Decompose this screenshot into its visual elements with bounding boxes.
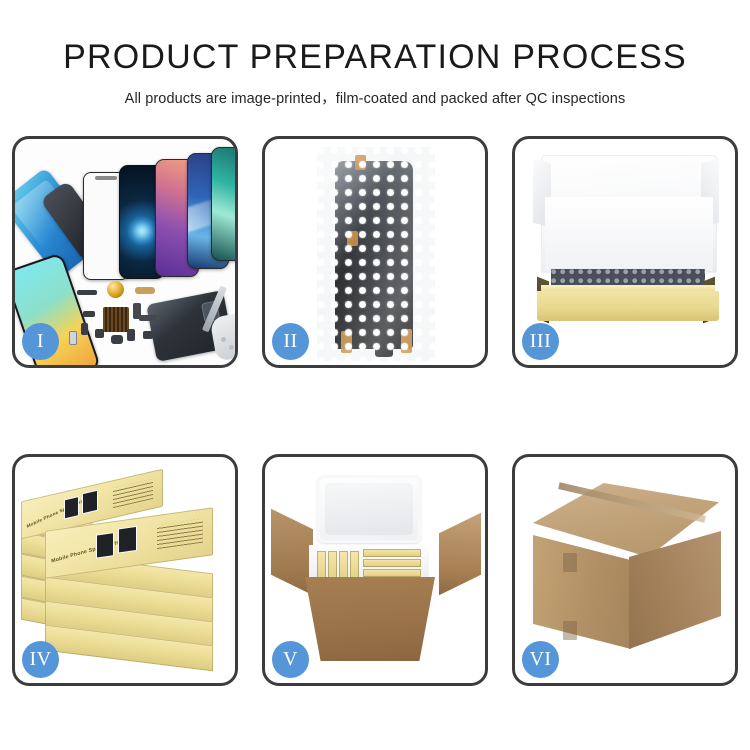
foam-lid-inner	[325, 483, 413, 535]
component-chip-icon-6	[143, 331, 153, 339]
carton-flap-right-icon	[439, 513, 481, 595]
box-label-rear: Mobile Phone Spare Parts	[26, 497, 87, 529]
step-badge-5: V	[272, 641, 309, 678]
step-badge-1: I	[22, 323, 59, 360]
flex-cable-icon-3	[139, 315, 157, 321]
box-spec-lines-front	[157, 519, 203, 549]
box-chip-front-2	[119, 527, 136, 552]
carton-tab-icon-2	[563, 621, 577, 640]
page-subtitle: All products are image-printed，film-coat…	[0, 87, 750, 108]
step-badge-6: VI	[522, 641, 559, 678]
packed-box-icon-7	[363, 569, 421, 577]
process-steps-grid: I II	[12, 136, 738, 686]
step-panel-4: Mobile Phone Spare Parts Mobile Phone Sp…	[12, 454, 238, 686]
step-panel-2: II	[262, 136, 488, 368]
box-chip-front-1	[97, 533, 113, 557]
packed-box-icon-6	[363, 559, 421, 567]
box-spec-lines-rear	[113, 479, 153, 508]
sim-tray-icon	[69, 331, 77, 345]
connector-grid-icon	[103, 307, 129, 332]
teal-phone-display-icon	[211, 147, 235, 261]
plastic-sheen	[317, 147, 435, 361]
screw-icon-1	[221, 337, 226, 342]
step-badge-2: II	[272, 323, 309, 360]
packed-box-icon-5	[363, 549, 421, 557]
component-chip-icon-1	[83, 311, 95, 317]
box-chip-rear-1	[65, 497, 78, 518]
step-panel-1: I	[12, 136, 238, 368]
component-chip-icon-2	[81, 323, 88, 335]
header: PRODUCT PREPARATION PROCESS All products…	[0, 0, 750, 108]
step-panel-5: V	[262, 454, 488, 686]
carton-body-icon	[305, 577, 435, 661]
step-badge-3: III	[522, 323, 559, 360]
step-badge-4: IV	[22, 641, 59, 678]
product-preparation-infographic: PRODUCT PREPARATION PROCESS All products…	[0, 0, 750, 750]
page-title: PRODUCT PREPARATION PROCESS	[0, 40, 750, 76]
step-panel-6: VI	[512, 454, 738, 686]
component-chip-icon-4	[111, 335, 123, 344]
screw-icon-2	[229, 345, 234, 350]
foam-sheet-icon	[545, 197, 713, 271]
carton-tab-icon-1	[563, 553, 577, 572]
box-front-panel-icon	[537, 291, 719, 321]
flex-cable-icon-1	[135, 287, 155, 294]
gold-component-icon	[107, 281, 124, 298]
box-chip-rear-2	[83, 491, 97, 513]
step-panel-3: III	[512, 136, 738, 368]
component-bar-icon	[77, 290, 97, 295]
component-chip-icon-5	[127, 329, 135, 341]
bubble-wrap-bag-icon	[317, 147, 435, 361]
foam-lid-icon	[317, 475, 421, 543]
carton-left-face-icon	[533, 535, 631, 649]
component-chip-icon-3	[95, 329, 104, 338]
